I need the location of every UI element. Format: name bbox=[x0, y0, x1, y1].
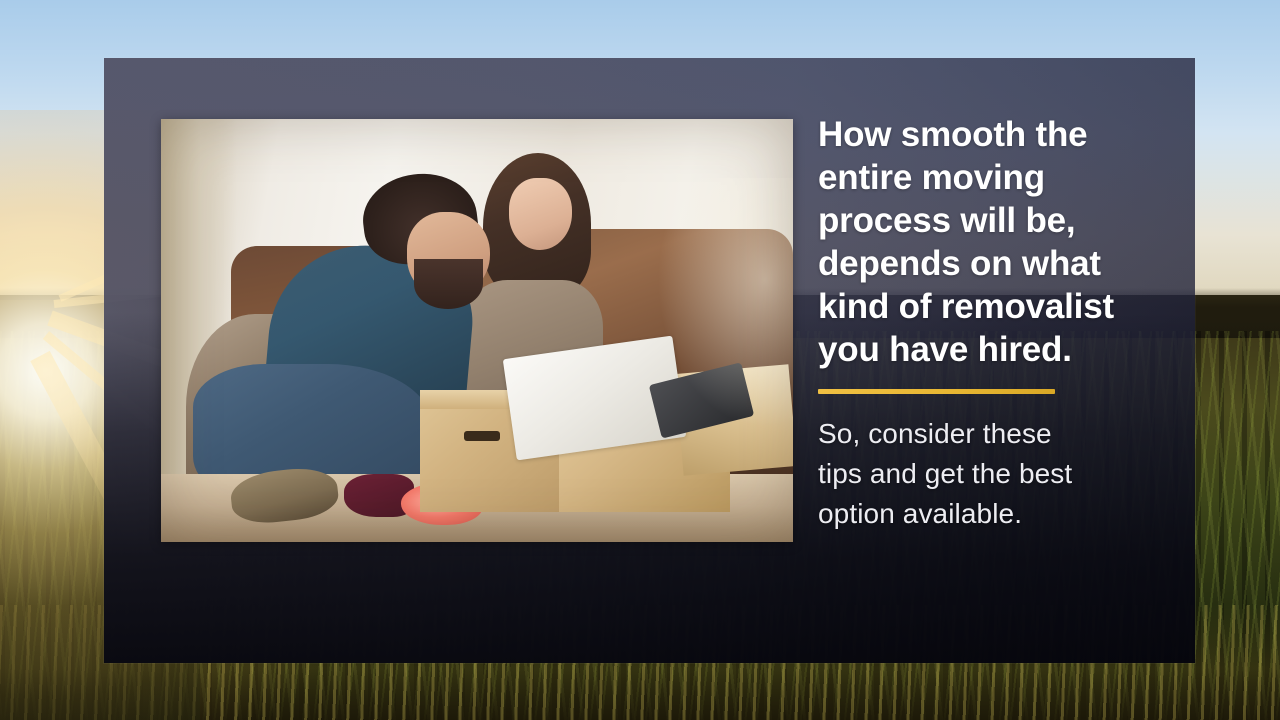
slide-stage: How smooth the entire moving process wil… bbox=[0, 0, 1280, 720]
couple-moving-photo bbox=[161, 119, 793, 542]
headline-line: depends on what bbox=[818, 242, 1178, 285]
subtext-line: So, consider these bbox=[818, 414, 1178, 454]
slide-card: How smooth the entire moving process wil… bbox=[104, 58, 1195, 663]
headline-line: How smooth the bbox=[818, 113, 1178, 156]
headline-line: entire moving bbox=[818, 156, 1178, 199]
headline-line: kind of removalist bbox=[818, 285, 1178, 328]
text-column: How smooth the entire moving process wil… bbox=[818, 113, 1178, 534]
headline-line: process will be, bbox=[818, 199, 1178, 242]
headline-line: you have hired. bbox=[818, 328, 1178, 371]
subtext-line: tips and get the best bbox=[818, 454, 1178, 494]
headline: How smooth the entire moving process wil… bbox=[818, 113, 1178, 371]
photo-vignette bbox=[161, 119, 793, 542]
subtext-line: option available. bbox=[818, 494, 1178, 534]
gold-divider bbox=[818, 389, 1055, 394]
subtext: So, consider these tips and get the best… bbox=[818, 414, 1178, 534]
